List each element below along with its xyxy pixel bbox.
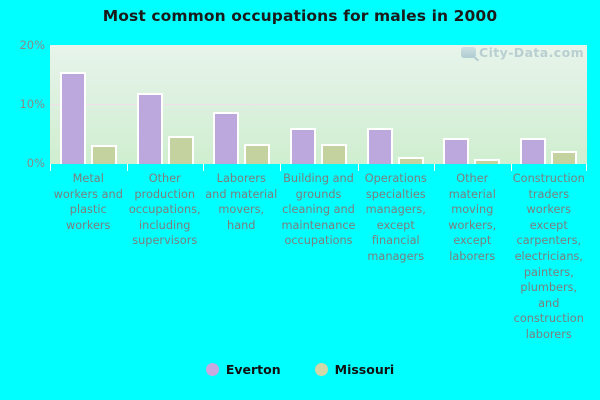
x-axis-category-text: Building and grounds cleaning and mainte… xyxy=(282,172,356,247)
bar-everton[interactable] xyxy=(60,72,86,164)
bar-group xyxy=(50,45,127,164)
bar-groups xyxy=(50,45,587,164)
x-axis-tick xyxy=(511,164,512,171)
bar-everton[interactable] xyxy=(367,128,393,164)
bar-group xyxy=(510,45,587,164)
chart-title: Most common occupations for males in 200… xyxy=(0,7,600,25)
chart-container: Most common occupations for males in 200… xyxy=(0,0,600,400)
legend-label: Everton xyxy=(226,362,281,377)
x-axis-category-text: Laborers and material movers, hand xyxy=(205,172,277,232)
x-axis-category-label: Metal workers and plastic workers xyxy=(50,164,127,343)
x-axis-category-label: Other material moving workers, except la… xyxy=(434,164,511,343)
bar-everton[interactable] xyxy=(137,93,163,164)
bar-group xyxy=(280,45,357,164)
bar-group xyxy=(127,45,204,164)
bar-everton[interactable] xyxy=(213,112,239,164)
bar-group xyxy=(357,45,434,164)
y-axis-tick-10: 10% xyxy=(0,97,45,111)
legend-item-missouri[interactable]: Missouri xyxy=(315,362,395,377)
bar-missouri[interactable] xyxy=(91,145,117,164)
x-axis-category-text: Metal workers and plastic workers xyxy=(54,172,123,232)
x-axis-category-text: Other production occupations, including … xyxy=(129,172,201,247)
x-axis-category-label: Operations specialties managers, except … xyxy=(358,164,435,343)
x-axis-tick xyxy=(280,164,281,171)
bar-missouri[interactable] xyxy=(168,136,194,164)
x-axis-category-label: Building and grounds cleaning and mainte… xyxy=(280,164,358,343)
bar-everton[interactable] xyxy=(520,138,546,164)
legend-item-everton[interactable]: Everton xyxy=(206,362,281,377)
x-axis-tick xyxy=(127,164,128,171)
bar-missouri[interactable] xyxy=(398,157,424,164)
bar-missouri[interactable] xyxy=(551,151,577,164)
x-axis-category-label: Laborers and material movers, hand xyxy=(203,164,280,343)
x-axis-tick xyxy=(434,164,435,171)
legend-swatch-icon xyxy=(206,363,219,376)
x-axis-tick xyxy=(358,164,359,171)
bar-group xyxy=(203,45,280,164)
bar-everton[interactable] xyxy=(290,128,316,164)
legend-label: Missouri xyxy=(335,362,395,377)
x-axis-category-text: Operations specialties managers, except … xyxy=(365,172,427,263)
y-axis-tick-0: 0% xyxy=(0,156,45,170)
y-axis-tick-20: 20% xyxy=(0,38,45,52)
bar-group xyxy=(434,45,511,164)
legend-swatch-icon xyxy=(315,363,328,376)
bar-everton[interactable] xyxy=(443,138,469,164)
bar-missouri[interactable] xyxy=(321,144,347,164)
x-axis-category-label: Construction traders workers except carp… xyxy=(511,164,588,343)
bar-missouri[interactable] xyxy=(244,144,270,164)
x-axis-category-text: Construction traders workers except carp… xyxy=(513,172,585,341)
x-axis-tick xyxy=(203,164,204,171)
x-axis-category-text: Other material moving workers, except la… xyxy=(448,172,496,263)
x-axis-tick xyxy=(50,164,51,171)
x-axis-category-label: Other production occupations, including … xyxy=(127,164,204,343)
x-axis-tick-end xyxy=(586,164,587,171)
chart-legend: EvertonMissouri xyxy=(0,362,600,377)
x-axis-labels: Metal workers and plastic workersOther p… xyxy=(50,164,587,343)
